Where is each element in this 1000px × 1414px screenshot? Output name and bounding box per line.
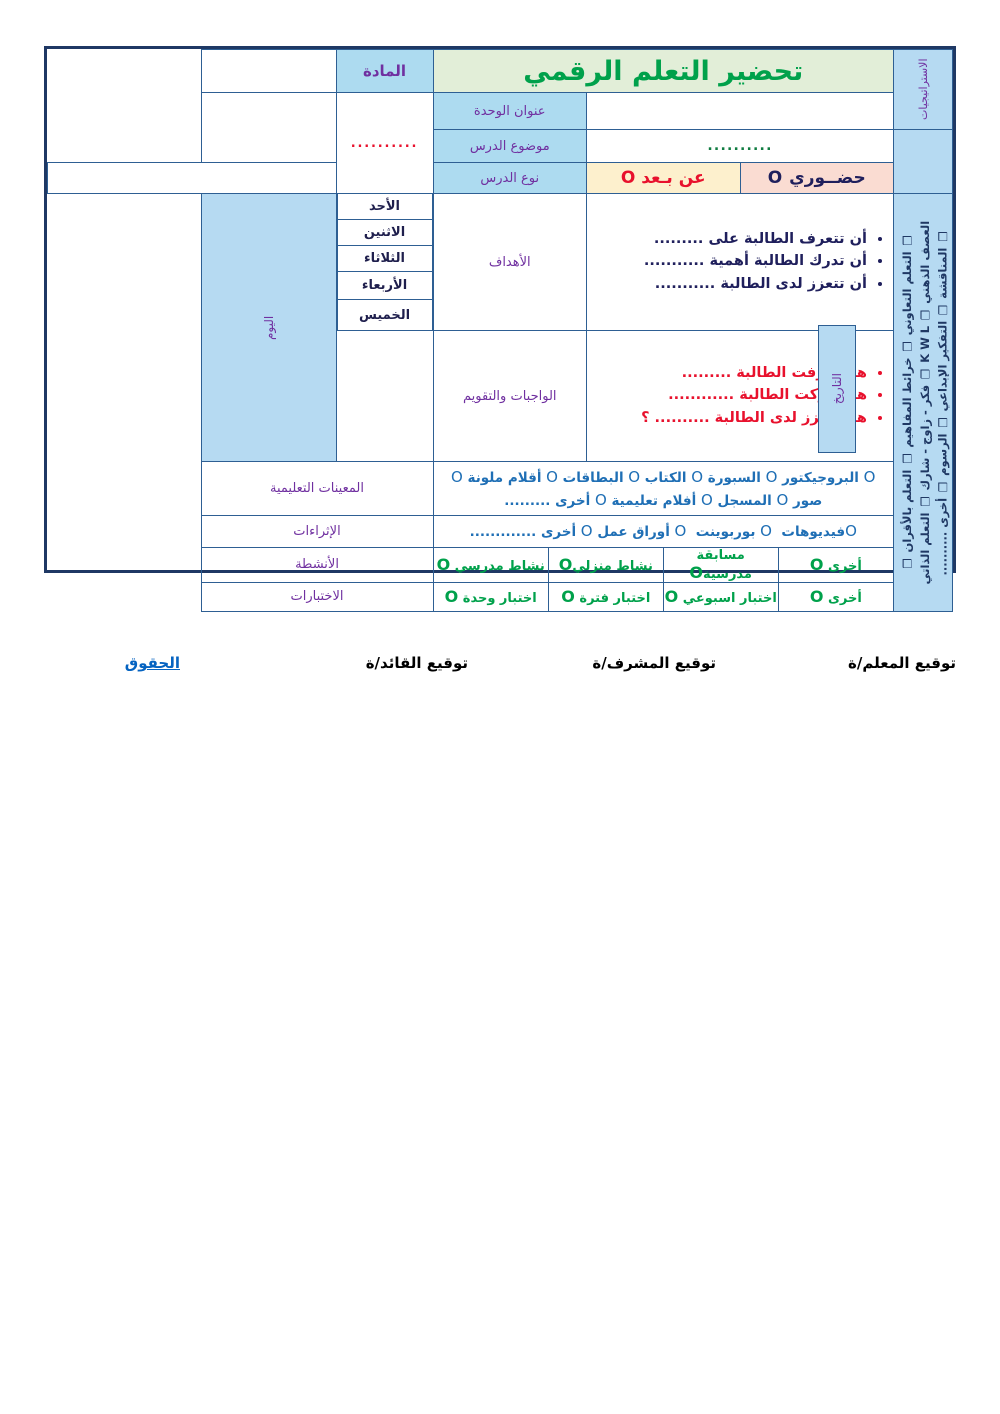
day-cell-sunday[interactable]: الأحد xyxy=(337,194,432,220)
day-row[interactable]: الثلاثاء xyxy=(337,246,432,272)
aid-label: صور xyxy=(793,493,822,509)
day-cell-monday[interactable]: الاثنين xyxy=(337,220,432,246)
lesson-type-spacer xyxy=(48,163,337,194)
aid-label: البطاقات xyxy=(563,470,624,486)
strategies-inline: ❑ التعلم التعاوني ❑ خرائط المفاهيم ❑ الت… xyxy=(899,216,952,588)
test-mark[interactable]: O xyxy=(561,587,575,606)
lesson-type-onsite-mark[interactable]: O xyxy=(768,168,783,188)
strategies-list-cell[interactable]: ❑ التعلم التعاوني ❑ خرائط المفاهيم ❑ الت… xyxy=(894,194,953,612)
teaching-aids-label: المعينات التعليمية xyxy=(202,481,433,496)
objective-item: أن تتعرف الطالبة على ......... xyxy=(587,229,867,250)
day-label: الخميس xyxy=(338,308,432,323)
enrichment-label: بوربوينت xyxy=(696,524,756,540)
aid-label: أقلام ملونة xyxy=(468,470,542,486)
unit-value xyxy=(587,108,893,114)
day-header-cell: اليوم xyxy=(201,194,336,462)
subject-side-spacer xyxy=(201,93,336,163)
test-label: اختبار اسبوعي xyxy=(683,591,777,606)
teacher-signature-label: توقيع المعلم/ة xyxy=(848,654,956,672)
footer: توقيع المعلم/ة توقيع المشرف/ة توقيع القا… xyxy=(44,652,956,682)
enrichment-label: أخرى ............. xyxy=(470,524,577,540)
test-mark[interactable]: O xyxy=(810,587,824,606)
subject-value: .......... xyxy=(337,136,433,151)
assessment-label: الواجبات والتقويم xyxy=(434,389,587,404)
activity-mark[interactable]: O xyxy=(810,555,824,574)
lesson-plan-page: الاستراتيجيات تحضير التعلم الرقمي المادة… xyxy=(0,0,1000,707)
strategies-header-cell: الاستراتيجيات xyxy=(894,50,953,130)
test-mark[interactable]: O xyxy=(665,587,679,606)
day-cell-tuesday[interactable]: الثلاثاء xyxy=(337,246,432,272)
days-table: الأحد الاثنين الثلاثاء الأربعاء الخميس xyxy=(337,194,433,330)
test-label: اختبار فترة xyxy=(579,591,650,606)
activity-cell-home[interactable]: نشاط منزليO xyxy=(548,548,663,582)
subject-value-cell[interactable]: .......... xyxy=(336,93,433,194)
activities-row: أخرى O مسابقة مدرسيةO نشاط منزليO نشاط م… xyxy=(48,547,953,582)
aid-mark[interactable]: O xyxy=(451,468,463,486)
test-cell-other[interactable]: أخرى O xyxy=(778,583,893,611)
unit-label: عنوان الوحدة xyxy=(434,104,587,119)
activities-label-cell: الأنشطة xyxy=(201,547,433,582)
aid-mark[interactable]: O xyxy=(546,468,558,486)
rights-link[interactable]: الحقوق xyxy=(125,654,180,672)
lesson-type-onsite-cell[interactable]: حضــوري O xyxy=(740,163,894,194)
day-label: الأربعاء xyxy=(338,278,432,293)
activity-cell-competition[interactable]: مسابقة مدرسيةO xyxy=(663,548,778,582)
lesson-type-onsite: حضــوري O xyxy=(741,168,894,188)
enrichment-row: Oفيديوهات O بوربوينت O أوراق عمل O أخرى … xyxy=(48,516,953,548)
enrichment-label: الإثراءات xyxy=(202,524,433,539)
day-label: الأحد xyxy=(338,199,432,214)
lesson-type-label: نوع الدرس xyxy=(434,171,587,186)
aid-mark[interactable]: O xyxy=(766,468,778,486)
lesson-topic-value-cell[interactable]: .......... xyxy=(587,130,894,163)
aid-label: البروجيكتور xyxy=(782,470,859,486)
enrichment-mark[interactable]: O xyxy=(760,522,772,540)
aid-label: المسجل xyxy=(717,493,771,509)
enrichment-mark[interactable]: O xyxy=(581,522,593,540)
activities-table: أخرى O مسابقة مدرسيةO نشاط منزليO نشاط م… xyxy=(434,548,894,582)
enrichment-value-cell[interactable]: Oفيديوهات O بوربوينت O أوراق عمل O أخرى … xyxy=(433,516,894,548)
objective-item: أن تتعزز لدى الطالبة ........... xyxy=(587,274,867,295)
assessment-row: هل تعرفت الطالبة ......... هل ادركت الطا… xyxy=(48,331,953,462)
test-label: اختبار وحدة xyxy=(463,591,537,606)
subject-label: المادة xyxy=(337,62,433,80)
tests-value-cell: أخرى O اختبار اسبوعي O اختبار فترة O اخت… xyxy=(433,582,894,611)
enrichment-label-cell: الإثراءات xyxy=(201,516,433,548)
day-column-label: اليوم xyxy=(262,194,276,461)
tests-label-cell: الاختبارات xyxy=(201,582,433,611)
objectives-items: أن تتعرف الطالبة على ......... أن تدرك ا… xyxy=(587,229,893,294)
activity-cell-school[interactable]: نشاط مدرسي O xyxy=(434,548,549,582)
unit-label-cell: عنوان الوحدة xyxy=(433,93,587,130)
objectives-label-cell: الأهداف xyxy=(433,194,587,331)
activity-label: نشاط مدرسي xyxy=(455,559,545,574)
enrichment-mark[interactable]: O xyxy=(675,522,687,540)
days-column-cell: الأحد الاثنين الثلاثاء الأربعاء الخميس xyxy=(336,194,433,331)
tests-row: أخرى O اختبار اسبوعي O اختبار فترة O اخت… xyxy=(48,582,953,611)
date-column-cell: التاريخ xyxy=(818,325,856,453)
objectives-list: أن تتعرف الطالبة على ......... أن تدرك ا… xyxy=(587,229,893,294)
day-row[interactable]: الخميس xyxy=(337,300,432,331)
lesson-topic-label: موضوع الدرس xyxy=(434,139,587,154)
day-label: الاثنين xyxy=(338,225,432,240)
activity-cell-other[interactable]: أخرى O xyxy=(778,548,893,582)
aid-mark[interactable]: O xyxy=(701,491,713,509)
enrichment-mark[interactable]: O xyxy=(845,522,857,540)
lesson-type-remote: عن بـعد O xyxy=(587,168,740,188)
unit-row: عنوان الوحدة .......... xyxy=(48,93,953,130)
tests-table: أخرى O اختبار اسبوعي O اختبار فترة O اخت… xyxy=(434,583,894,611)
leader-signature-label: توقيع القائد/ة xyxy=(366,654,468,672)
aid-mark[interactable]: O xyxy=(595,491,607,509)
activities-label: الأنشطة xyxy=(202,557,433,572)
activities-option-row: أخرى O مسابقة مدرسيةO نشاط منزليO نشاط م… xyxy=(434,548,894,582)
test-cell-period[interactable]: اختبار فترة O xyxy=(548,583,663,611)
tests-label: الاختبارات xyxy=(202,589,433,604)
aid-mark[interactable]: O xyxy=(691,468,703,486)
test-cell-unit[interactable]: اختبار وحدة O xyxy=(434,583,549,611)
day-row[interactable]: الأربعاء xyxy=(337,272,432,300)
enrichment-label: أوراق عمل xyxy=(597,524,670,540)
day-cell-wednesday[interactable]: الأربعاء xyxy=(337,272,432,300)
teaching-aids-value-cell[interactable]: O البروجيكتور O السبورة O الكتاب O البطا… xyxy=(433,462,894,516)
test-label: أخرى xyxy=(828,591,862,606)
lesson-type-remote-cell[interactable]: عن بـعد O xyxy=(587,163,741,194)
aid-mark[interactable]: O xyxy=(864,468,876,486)
test-cell-weekly[interactable]: اختبار اسبوعي O xyxy=(663,583,778,611)
activity-label: نشاط منزلي xyxy=(572,559,653,574)
strategies-header-label: الاستراتيجيات xyxy=(917,50,930,129)
teaching-aids-label-cell: المعينات التعليمية xyxy=(201,462,433,516)
lesson-topic-value: .......... xyxy=(587,138,893,154)
teaching-aids-options: O البروجيكتور O السبورة O الكتاب O البطا… xyxy=(434,462,894,515)
lesson-type-remote-mark[interactable]: O xyxy=(621,168,635,188)
unit-value-cell[interactable] xyxy=(587,93,894,130)
strategies-cell-top xyxy=(894,130,953,194)
supervisor-signature-label: توقيع المشرف/ة xyxy=(592,654,716,672)
date-value-cell[interactable] xyxy=(336,331,433,462)
tests-option-row: أخرى O اختبار اسبوعي O اختبار فترة O اخت… xyxy=(434,583,894,611)
day-row[interactable]: الأحد xyxy=(337,194,432,220)
lesson-type-label-cell: نوع الدرس xyxy=(433,163,587,194)
activities-value-cell: أخرى O مسابقة مدرسيةO نشاط منزليO نشاط م… xyxy=(433,547,894,582)
day-cell-thursday[interactable]: الخميس xyxy=(337,300,432,331)
activity-mark[interactable]: O xyxy=(437,555,451,574)
day-row[interactable]: الاثنين xyxy=(337,220,432,246)
objectives-row: ❑ التعلم التعاوني ❑ خرائط المفاهيم ❑ الت… xyxy=(48,194,953,331)
objective-item: أن تدرك الطالبة أهمية ........... xyxy=(587,251,867,272)
lesson-topic-row: .......... موضوع الدرس xyxy=(48,130,953,163)
lesson-plan-frame: الاستراتيجيات تحضير التعلم الرقمي المادة… xyxy=(44,46,956,573)
assessment-label-cell: الواجبات والتقويم xyxy=(433,331,587,462)
page-title: تحضير التعلم الرقمي xyxy=(434,56,894,87)
aid-mark[interactable]: O xyxy=(776,491,788,509)
lesson-type-remote-label: عن بـعد xyxy=(641,168,705,188)
aid-mark[interactable]: O xyxy=(628,468,640,486)
enrichment-label: فيديوهات xyxy=(781,524,845,540)
aid-label: أخرى ......... xyxy=(504,493,590,509)
subject-header-cell: المادة xyxy=(336,50,433,93)
objectives-label: الأهداف xyxy=(434,255,587,270)
activity-label: أخرى xyxy=(828,559,862,574)
lesson-topic-label-cell: موضوع الدرس xyxy=(433,130,587,163)
aid-label: أفلام تعليمية xyxy=(611,493,696,509)
lesson-type-onsite-label: حضــوري xyxy=(789,168,866,188)
objectives-value-cell[interactable]: أن تتعرف الطالبة على ......... أن تدرك ا… xyxy=(587,194,894,331)
test-mark[interactable]: O xyxy=(445,587,459,606)
day-label: الثلاثاء xyxy=(338,251,432,266)
aid-label: السبورة xyxy=(708,470,761,486)
subject-header-spacer xyxy=(201,50,336,93)
strategies-vertical-text: ❑ التعلم التعاوني ❑ خرائط المفاهيم ❑ الت… xyxy=(899,194,952,611)
title-row: الاستراتيجيات تحضير التعلم الرقمي المادة xyxy=(48,50,953,93)
title-cell: تحضير التعلم الرقمي xyxy=(433,50,894,93)
enrichment-options: Oفيديوهات O بوربوينت O أوراق عمل O أخرى … xyxy=(434,516,894,547)
activity-mark[interactable]: O xyxy=(559,555,573,574)
aid-label: الكتاب xyxy=(645,470,687,486)
date-column-label: التاريخ xyxy=(830,373,844,404)
teaching-aids-row: O البروجيكتور O السبورة O الكتاب O البطا… xyxy=(48,462,953,516)
activity-mark[interactable]: O xyxy=(689,563,703,582)
lesson-type-row: حضــوري O عن بـعد O نوع الدرس xyxy=(48,163,953,194)
activity-label: مسابقة مدرسية xyxy=(697,548,752,582)
